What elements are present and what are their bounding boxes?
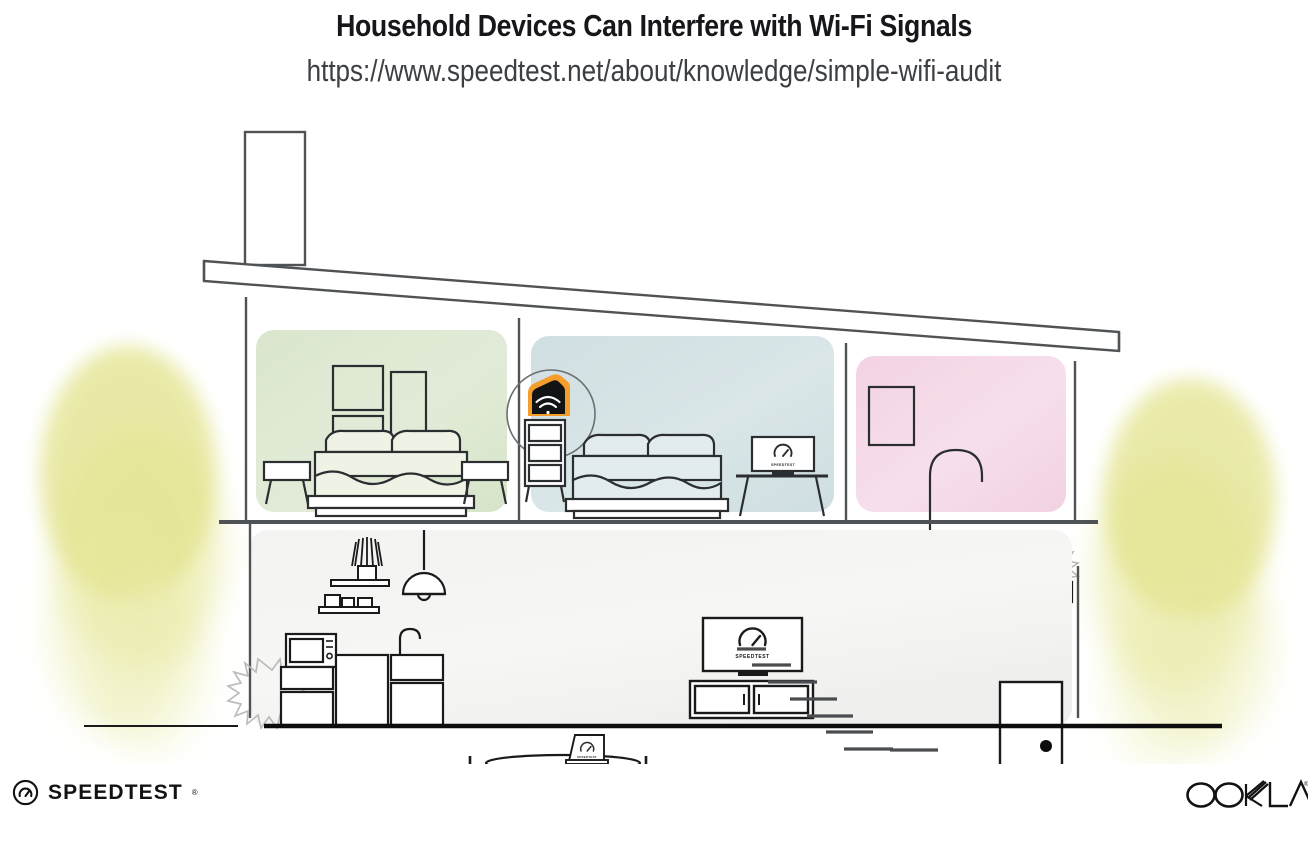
bed-plinth bbox=[574, 511, 720, 518]
bed-green bbox=[308, 431, 474, 516]
front-door bbox=[1000, 682, 1062, 764]
ookla-o2 bbox=[1216, 784, 1243, 807]
speedtest-trademark: ® bbox=[192, 788, 198, 797]
speedtest-wordmark: SPEEDTEST bbox=[48, 781, 183, 805]
page-url: https://www.speedtest.net/about/knowledg… bbox=[105, 53, 1204, 89]
door-knob bbox=[1040, 740, 1052, 752]
house-illustration: SPEEDTEST bbox=[0, 104, 1308, 764]
ookla-l bbox=[1270, 782, 1288, 806]
ookla-trademark: ® bbox=[1304, 781, 1308, 788]
table-top bbox=[486, 755, 640, 764]
poster-page: Household Devices Can Interfere with Wi-… bbox=[0, 0, 1308, 861]
tv-screen-label: SPEEDTEST bbox=[735, 654, 769, 660]
bed-plinth bbox=[316, 508, 466, 516]
laptop-screen-label: SPEEDTEST bbox=[577, 755, 597, 759]
speedtest-gauge-icon bbox=[12, 779, 39, 806]
microwave bbox=[286, 634, 336, 667]
dining-table bbox=[486, 755, 640, 764]
speedtest-logo[interactable]: SPEEDTEST ® bbox=[12, 779, 198, 806]
pillow-left bbox=[326, 431, 394, 452]
foliage-right bbox=[1095, 379, 1276, 764]
footer: SPEEDTEST ® bbox=[0, 765, 1308, 861]
shelf-upper bbox=[331, 580, 389, 586]
pillow-right bbox=[392, 431, 460, 452]
foliage-left bbox=[40, 346, 222, 754]
monitor-stand bbox=[772, 471, 794, 475]
bed-blue bbox=[566, 435, 728, 518]
bed-base bbox=[566, 499, 728, 511]
room-bedroom-green bbox=[256, 330, 508, 516]
tv-stand bbox=[738, 672, 768, 676]
bed-base bbox=[308, 496, 474, 508]
page-title: Household Devices Can Interfere with Wi-… bbox=[92, 8, 1217, 44]
ookla-o1 bbox=[1188, 784, 1215, 807]
monitor-screen-label: SPEEDTEST bbox=[771, 463, 796, 467]
ookla-k bbox=[1246, 781, 1268, 806]
ookla-logo[interactable]: ® bbox=[1184, 775, 1308, 814]
roof-and-chimney bbox=[204, 132, 1119, 351]
chimney bbox=[245, 132, 305, 265]
television: SPEEDTEST bbox=[703, 618, 802, 676]
pillow-right bbox=[648, 435, 714, 456]
laptop: SPEEDTEST bbox=[566, 735, 608, 764]
dining-set: SPEEDTEST bbox=[470, 735, 646, 764]
pillow-left bbox=[584, 435, 650, 456]
header: Household Devices Can Interfere with Wi-… bbox=[0, 0, 1308, 89]
desktop-monitor: SPEEDTEST bbox=[752, 437, 814, 475]
room-bedroom-blue: SPEEDTEST bbox=[507, 336, 834, 518]
